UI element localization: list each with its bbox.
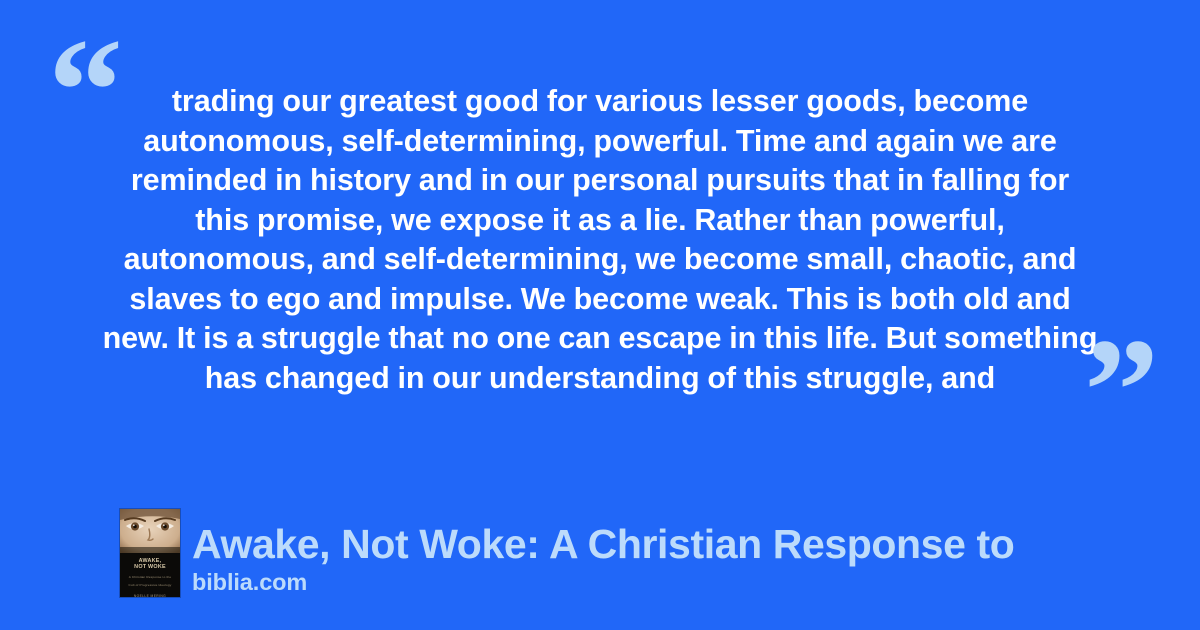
source-name[interactable]: biblia.com: [192, 569, 1014, 595]
book-cover-thumbnail[interactable]: Awake, Not Woke A Christian Response to …: [120, 509, 180, 597]
attribution[interactable]: Awake, Not Woke A Christian Response to …: [120, 509, 1014, 597]
close-quote-icon: ”: [1084, 316, 1157, 466]
cover-subtitle-line-1: A Christian Response to the: [120, 575, 180, 579]
face-eyes-illustration: [120, 509, 180, 553]
attribution-text: Awake, Not Woke: A Christian Response to…: [192, 522, 1014, 597]
cover-title-line-2: Not Woke: [120, 564, 180, 570]
cover-subtitle-line-2: Cult of Progressive Ideology: [120, 583, 180, 587]
quote-block: trading our greatest good for various le…: [100, 82, 1100, 398]
book-cover-artwork: [120, 509, 180, 553]
quote-text: trading our greatest good for various le…: [100, 82, 1100, 398]
book-cover-text-panel: Awake, Not Woke A Christian Response to …: [120, 553, 180, 597]
cover-author: Noelle Mering: [120, 594, 180, 597]
book-title[interactable]: Awake, Not Woke: A Christian Response to: [192, 522, 1014, 567]
quote-card: “ trading our greatest good for various …: [0, 0, 1200, 630]
